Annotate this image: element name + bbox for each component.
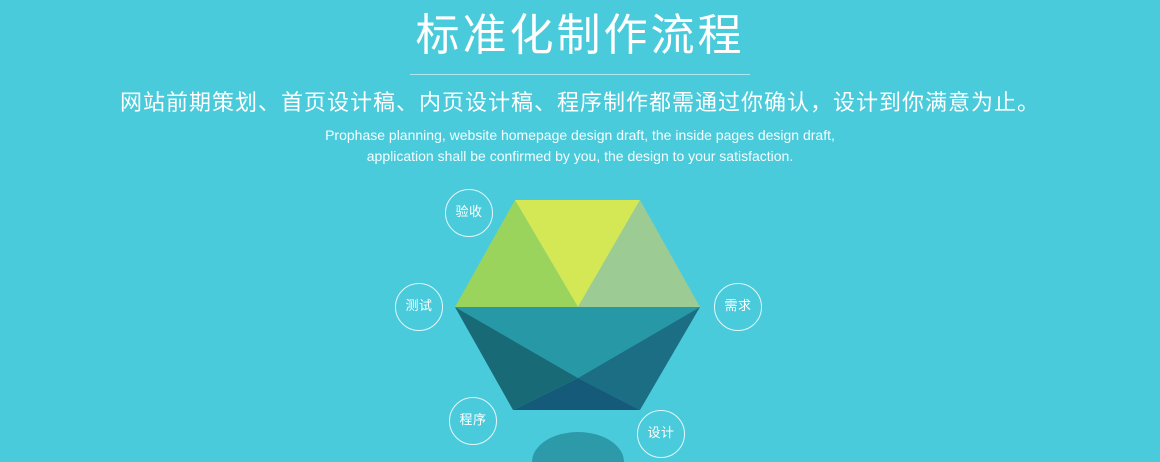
subtitle-chinese: 网站前期策划、首页设计稿、内页设计稿、程序制作都需通过你确认，设计到你满意为止。 <box>0 89 1160 119</box>
subtitle-english-line-1: Prophase planning, website homepage desi… <box>0 125 1160 146</box>
node-yanshou[interactable]: 验收 <box>445 189 493 237</box>
header-block: 标准化制作流程 网站前期策划、首页设计稿、内页设计稿、程序制作都需通过你确认，设… <box>0 0 1160 167</box>
page-title: 标准化制作流程 <box>0 8 1160 64</box>
node-ceshi[interactable]: 测试 <box>395 283 443 331</box>
node-sheji[interactable]: 设计 <box>637 410 685 458</box>
node-xuqiu[interactable]: 需求 <box>714 283 762 331</box>
title-divider <box>410 74 750 75</box>
base-shadow-ellipse <box>532 432 624 462</box>
subtitle-english: Prophase planning, website homepage desi… <box>0 125 1160 167</box>
node-chengxu[interactable]: 程序 <box>449 397 497 445</box>
slide-canvas: 标准化制作流程 网站前期策划、首页设计稿、内页设计稿、程序制作都需通过你确认，设… <box>0 0 1160 462</box>
subtitle-english-line-2: application shall be confirmed by you, t… <box>0 146 1160 167</box>
